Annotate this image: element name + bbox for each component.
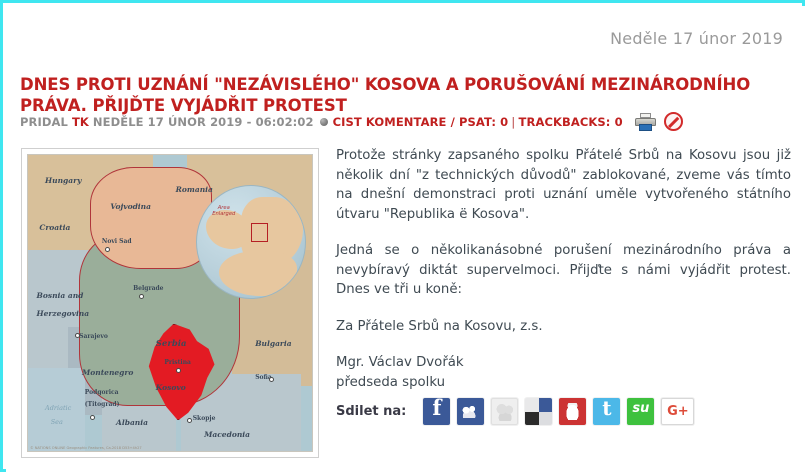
page-root: Neděle 17 únor 2019 DNES PROTI UZNÁNÍ "N… <box>0 0 805 472</box>
map-label-herzegovina: Herzegovina <box>37 309 90 318</box>
city-dot-pristina <box>176 368 181 373</box>
map-region-vojvodina <box>90 167 211 270</box>
article-paragraph-1: Protože stránky zapsaného spolku Přátelé… <box>336 146 791 224</box>
share-reddit-icon[interactable] <box>559 398 586 425</box>
map-label-vojvodina: Vojvodina <box>110 202 151 211</box>
map-label-bosnia-and: Bosnia and <box>37 291 84 300</box>
map-label-belgrade: Belgrade <box>133 285 163 292</box>
share-stumbleupon-icon[interactable] <box>627 398 654 425</box>
map-label-kosovo: Kosovo <box>156 383 186 392</box>
share-facebook-icon[interactable] <box>423 398 450 425</box>
article-body: Protože stránky zapsaného spolku Přátelé… <box>336 146 791 392</box>
globe-area-box <box>251 223 268 242</box>
article-meta: PRIDAL TK NEDĚLE 17 ÚNOR 2019 - 06:02:02… <box>20 112 683 131</box>
meta-icon-group <box>635 112 683 131</box>
delicious-quadrant-3 <box>525 412 539 426</box>
current-date: Neděle 17 únor 2019 <box>610 29 783 48</box>
printer-paper-part <box>640 113 651 118</box>
share-label: Sdilet na: <box>336 404 406 419</box>
printer-output-part <box>639 124 652 131</box>
share-myspace-icon[interactable] <box>491 398 518 425</box>
globe-caption-line2: Enlarged <box>212 211 235 217</box>
map-label-macedonia: Macedonia <box>204 430 250 439</box>
map-label-titograd: (Titograd) <box>85 401 120 408</box>
meta-datetime: NEDĚLE 17 ÚNOR 2019 - 06:02:02 <box>93 115 314 129</box>
map-label-pristina: Pristina <box>164 359 191 366</box>
city-dot-novi-sad <box>105 247 110 252</box>
article-paragraph-2: Jedná se o několikanásobné porušení mezi… <box>336 241 791 300</box>
delicious-quadrant-1 <box>525 398 539 412</box>
meta-separator: | <box>508 115 518 129</box>
map-globe-inset <box>196 185 306 299</box>
article-signature: Mgr. Václav Dvořák předseda spolku <box>336 353 791 392</box>
city-dot-sarajevo <box>75 333 80 338</box>
meta-trackbacks[interactable]: TRACKBACKS: 0 <box>519 115 623 129</box>
meta-added-label: PRIDAL <box>20 115 68 129</box>
map-label-sarajevo: Sarajevo <box>79 333 108 340</box>
pdf-icon[interactable] <box>664 112 683 131</box>
map-figure[interactable]: Area Enlarged HungaryRomaniaCroatiaVojvo… <box>21 148 319 458</box>
map-label-novi-sad: Novi Sad <box>102 238 132 245</box>
comment-bullet-icon <box>320 118 328 126</box>
meta-comments-link[interactable]: CIST KOMENTARE / PSAT: 0 <box>333 115 509 129</box>
article-headline: DNES PROTI UZNÁNÍ "NEZÁVISLÉHO" KOSOVA A… <box>20 74 780 116</box>
printer-icon[interactable] <box>635 113 656 131</box>
share-bar: Sdilet na: <box>336 398 694 425</box>
share-google-plus-icon[interactable] <box>661 398 694 425</box>
page-inner: Neděle 17 únor 2019 DNES PROTI UZNÁNÍ "N… <box>6 6 805 472</box>
map-label-skopje: Skopje <box>193 415 216 422</box>
map-label-podgorica: Podgorica <box>85 389 119 396</box>
map-label-adriatic: Adriatic <box>45 404 71 412</box>
share-delicious-icon[interactable] <box>525 398 552 425</box>
map-label-hungary: Hungary <box>45 176 81 185</box>
globe-landmass-3 <box>219 251 297 296</box>
globe-caption: Area Enlarged <box>212 205 235 217</box>
map-label-serbia: Serbia <box>156 339 187 349</box>
map-label-sea: Sea <box>51 418 63 426</box>
map-label-croatia: Croatia <box>39 223 70 232</box>
meta-author[interactable]: TK <box>72 115 89 129</box>
map-label-bulgaria: Bulgaria <box>255 339 291 348</box>
share-facebook-share-icon[interactable] <box>457 398 484 425</box>
map-label-romania: Romania <box>176 185 213 194</box>
delicious-quadrant-4 <box>539 412 553 426</box>
map-label-albania: Albania <box>116 418 148 427</box>
map-image: Area Enlarged HungaryRomaniaCroatiaVojvo… <box>27 154 313 452</box>
city-dot-belgrade <box>139 294 144 299</box>
article-paragraph-3: Za Přátele Srbů na Kosovu, z.s. <box>336 317 791 337</box>
delicious-quadrant-2 <box>539 398 553 412</box>
map-credit: © NATIONS ONLINE Geographic Features, Ca… <box>30 446 142 450</box>
map-label-montenegro: Montenegro <box>82 368 133 377</box>
share-twitter-icon[interactable] <box>593 398 620 425</box>
